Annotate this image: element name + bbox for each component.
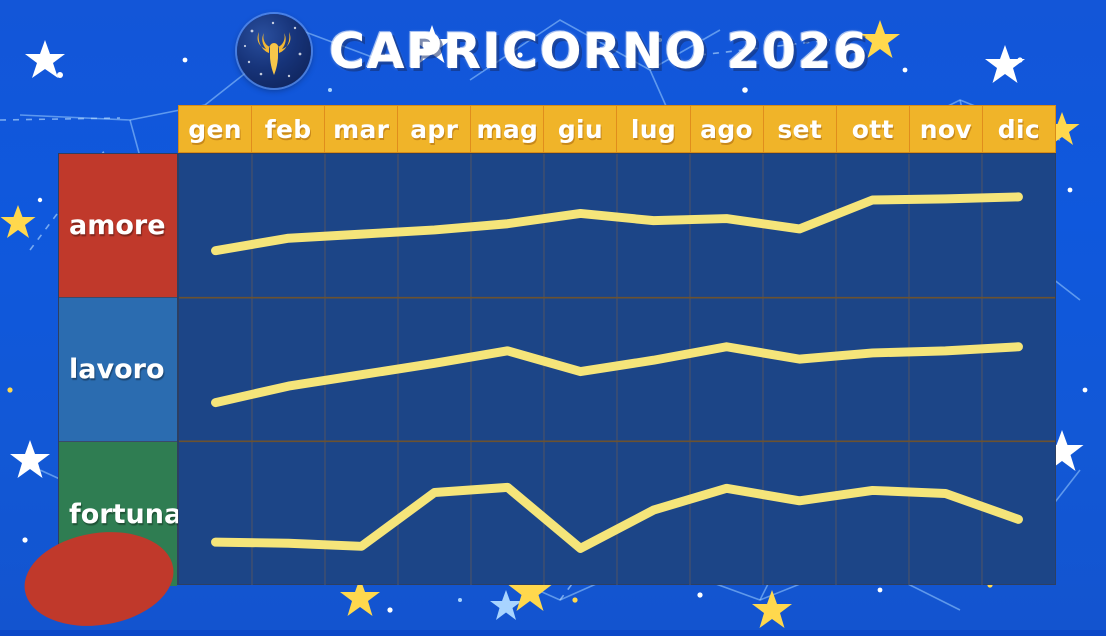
month-header-cell-mag: mag [471, 106, 544, 152]
category-label-column: amorelavorofortuna [58, 153, 178, 585]
plot-area [178, 153, 1056, 585]
month-header-cell-giu: giu [544, 106, 617, 152]
month-header-cell-feb: feb [252, 106, 325, 152]
month-header-cell-nov: nov [910, 106, 983, 152]
row-label-lavoro: lavoro [59, 298, 177, 442]
month-header-cell-set: set [764, 106, 837, 152]
month-header-row: genfebmaraprmaggiulugagosetottnovdic [178, 105, 1056, 153]
month-header-cell-ago: ago [691, 106, 764, 152]
month-header-cell-ott: ott [837, 106, 910, 152]
horoscope-chart: genfebmaraprmaggiulugagosetottnovdic amo… [58, 105, 1056, 585]
month-header-cell-gen: gen [179, 106, 252, 152]
month-header-cell-apr: apr [398, 106, 471, 152]
trend-lines-svg [179, 154, 1055, 585]
month-header-cell-mar: mar [325, 106, 398, 152]
row-label-amore: amore [59, 154, 177, 298]
month-header-cell-lug: lug [617, 106, 690, 152]
month-header-cell-dic: dic [983, 106, 1055, 152]
